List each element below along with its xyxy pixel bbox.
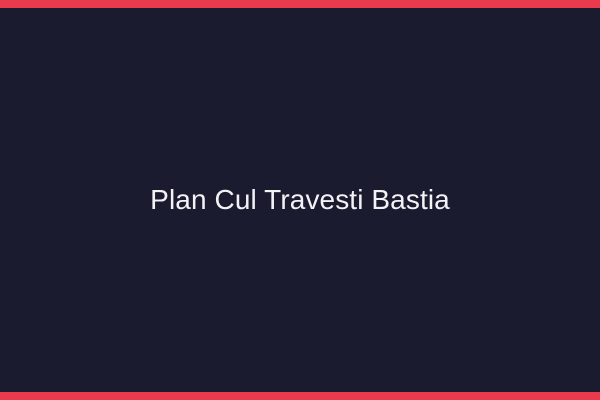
top-accent-bar <box>0 0 600 8</box>
banner-title: Plan Cul Travesti Bastia <box>126 183 474 217</box>
placeholder-banner-card: Plan Cul Travesti Bastia <box>0 0 600 400</box>
bottom-accent-bar <box>0 392 600 400</box>
